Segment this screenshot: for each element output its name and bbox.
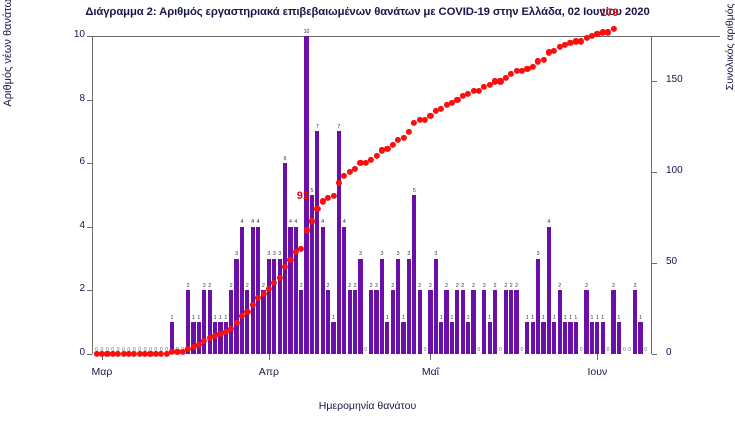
- x-tick: [430, 354, 431, 360]
- cumulative-point: [266, 285, 272, 291]
- cumulative-point: [228, 325, 234, 331]
- y-tick-right: [652, 172, 657, 173]
- bar-value-label: 10: [304, 29, 310, 35]
- cumulative-point: [352, 166, 358, 172]
- cumulative-point: [390, 142, 396, 148]
- cumulative-point: [540, 57, 546, 63]
- cumulative-line-series: 17991: [92, 36, 652, 354]
- y-tick-label-left: 10: [55, 29, 85, 40]
- y-tick-right: [652, 354, 657, 355]
- cumulative-point: [244, 309, 250, 315]
- cumulative-point: [400, 135, 406, 141]
- cumulative-point: [250, 302, 256, 308]
- y-tick-left: [87, 354, 92, 355]
- y-tick-label-right: 0: [666, 347, 696, 358]
- cumulative-point: [530, 64, 536, 70]
- cumulative-point: [287, 256, 293, 262]
- y-tick-label-right: 150: [666, 74, 696, 85]
- cumulative-point: [309, 218, 315, 224]
- cumulative-point: [271, 280, 277, 286]
- x-tick-label: Μαρ: [92, 366, 113, 378]
- y-tick-right: [652, 263, 657, 264]
- chart-title: Διάγραμμα 2: Αριθμός εργαστηριακά επιβεβ…: [0, 6, 735, 18]
- y-tick-label-left: 2: [55, 283, 85, 294]
- y-tick-right: [652, 81, 657, 82]
- y-tick-label-left: 6: [55, 156, 85, 167]
- cumulative-point: [282, 264, 288, 270]
- y-tick-label-right: 100: [666, 165, 696, 176]
- y-tick-label-left: 8: [55, 93, 85, 104]
- x-tick: [597, 354, 598, 360]
- cumulative-mid-label: 91: [297, 190, 309, 202]
- cumulative-point: [303, 227, 309, 233]
- y-axis-title-right: Συνολικός αριθμός θανάτων: [724, 0, 735, 110]
- y-tick-label-right: 50: [666, 256, 696, 267]
- cumulative-point: [336, 180, 342, 186]
- x-tick-label: Μαΐ: [422, 366, 439, 378]
- plot-area: 0246810 050100150 ΜαρΑπρΜαΐΙουν 00000000…: [92, 36, 652, 354]
- y-axis-title-left: Αριθμός νέων θανάτων: [2, 0, 14, 120]
- cumulative-point: [298, 246, 304, 252]
- cumulative-point: [314, 206, 320, 212]
- chart-page: Διάγραμμα 2: Αριθμός εργαστηριακά επιβεβ…: [0, 0, 735, 422]
- cumulative-point: [233, 320, 239, 326]
- cumulative-point: [406, 129, 412, 135]
- x-tick: [269, 354, 270, 360]
- y-tick-label-left: 4: [55, 220, 85, 231]
- x-tick-label: Ιουν: [587, 366, 607, 378]
- x-axis-title: Ημερομηνία θανάτου: [0, 400, 735, 412]
- cumulative-point: [610, 26, 616, 32]
- cumulative-point: [330, 193, 336, 199]
- cumulative-point: [260, 291, 266, 297]
- cumulative-point: [277, 275, 283, 281]
- cumulative-point: [373, 153, 379, 159]
- x-tick-label: Απρ: [259, 366, 279, 378]
- cumulative-point: [427, 113, 433, 119]
- cumulative-end-label: 179: [600, 7, 618, 19]
- y-tick-label-left: 0: [55, 347, 85, 358]
